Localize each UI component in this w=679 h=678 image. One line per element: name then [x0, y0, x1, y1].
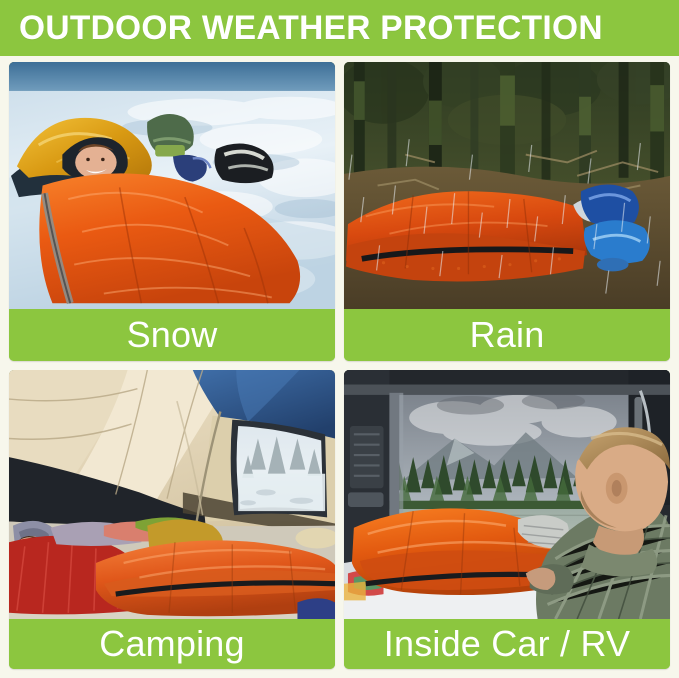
snow-scene-illustration	[9, 62, 335, 309]
panel-snow[interactable]: Snow	[9, 62, 335, 361]
caption-inside-car-rv: Inside Car / RV	[344, 619, 670, 669]
rain-scene-illustration	[344, 62, 670, 309]
infographic-root: OUTDOOR WEATHER PROTECTION	[0, 0, 679, 678]
panel-inside-car-rv[interactable]: Inside Car / RV	[344, 370, 670, 669]
caption-rain: Rain	[344, 309, 670, 361]
photo-camping	[9, 370, 335, 619]
inside-car-rv-scene-illustration	[344, 370, 670, 619]
panel-camping[interactable]: Camping	[9, 370, 335, 669]
page-title: OUTDOOR WEATHER PROTECTION	[19, 11, 603, 45]
photo-rain	[344, 62, 670, 309]
panel-grid: Snow	[0, 56, 679, 678]
camping-scene-illustration	[9, 370, 335, 619]
photo-inside-car-rv	[344, 370, 670, 619]
caption-camping: Camping	[9, 619, 335, 669]
panel-rain[interactable]: Rain	[344, 62, 670, 361]
caption-snow: Snow	[9, 309, 335, 361]
header-bar: OUTDOOR WEATHER PROTECTION	[0, 0, 679, 56]
photo-snow	[9, 62, 335, 309]
